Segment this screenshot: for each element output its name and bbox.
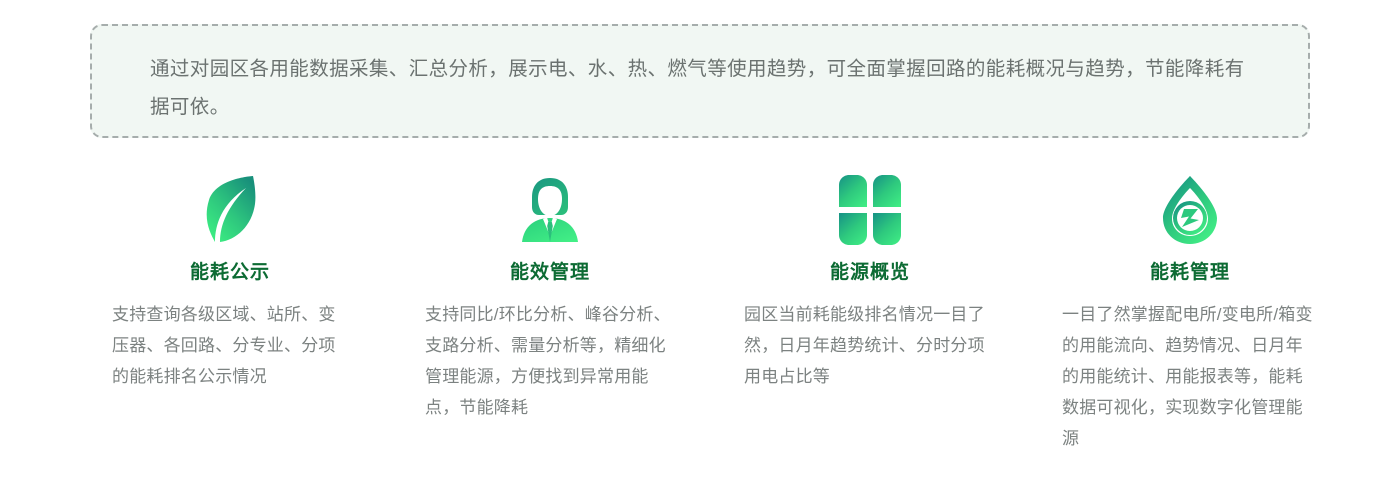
four-petal-clover-icon	[834, 172, 906, 248]
energy-feature-overview-page: 通过对园区各用能数据采集、汇总分析，展示电、水、热、燃气等使用趋势，可全面掌握回…	[0, 0, 1400, 478]
energy-droplet-icon	[1154, 172, 1226, 248]
feature-description: 一目了然掌握配电所/变电所/箱变的用能流向、趋势情况、日月年的用能统计、用能报表…	[1062, 299, 1318, 454]
feature-title: 能耗公示	[190, 263, 270, 282]
feature-list: 能耗公示 支持查询各级区域、站所、变压器、各回路、分专业、分项的能耗排名公示情况	[0, 172, 1400, 454]
feature-description: 支持查询各级区域、站所、变压器、各回路、分专业、分项的能耗排名公示情况	[112, 299, 348, 392]
feature-title: 能耗管理	[1150, 263, 1230, 282]
feature-item-energy-disclosure[interactable]: 能耗公示 支持查询各级区域、站所、变压器、各回路、分专业、分项的能耗排名公示情况	[70, 172, 390, 392]
feature-title: 能效管理	[510, 263, 590, 282]
feature-item-energy-overview[interactable]: 能源概览 园区当前耗能级排名情况一目了然，日月年趋势统计、分时分项用电占比等	[710, 172, 1030, 392]
intro-description: 通过对园区各用能数据采集、汇总分析，展示电、水、热、燃气等使用趋势，可全面掌握回…	[150, 50, 1260, 126]
feature-item-efficiency-management[interactable]: 能效管理 支持同比/环比分析、峰谷分析、支路分析、需量分析等，精细化管理能源，方…	[390, 172, 710, 423]
businessperson-icon	[514, 172, 586, 248]
feature-item-energy-consumption-management[interactable]: 能耗管理 一目了然掌握配电所/变电所/箱变的用能流向、趋势情况、日月年的用能统计…	[1030, 172, 1350, 454]
feature-description: 园区当前耗能级排名情况一目了然，日月年趋势统计、分时分项用电占比等	[744, 299, 996, 392]
intro-banner: 通过对园区各用能数据采集、汇总分析，展示电、水、热、燃气等使用趋势，可全面掌握回…	[90, 24, 1310, 138]
feature-description: 支持同比/环比分析、峰谷分析、支路分析、需量分析等，精细化管理能源，方便找到异常…	[425, 299, 675, 423]
feature-title: 能源概览	[830, 263, 910, 282]
leaf-icon	[194, 172, 266, 248]
